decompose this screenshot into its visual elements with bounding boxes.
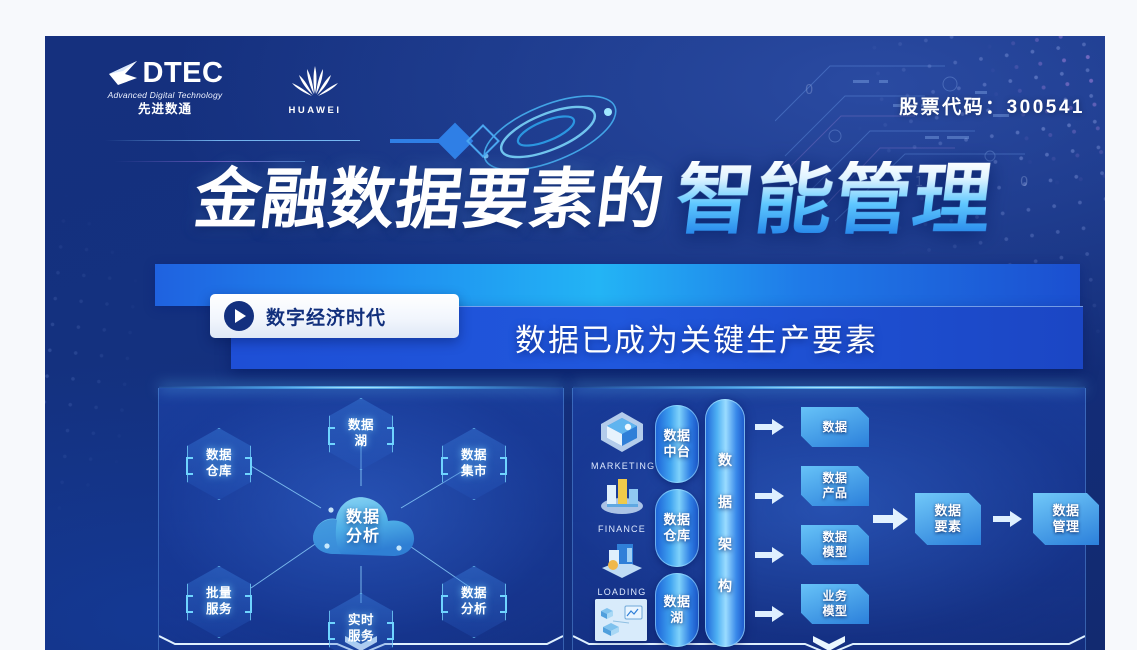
section-headline: 数据已成为关键生产要素 bbox=[515, 308, 1075, 366]
tower-char: 架 bbox=[718, 534, 732, 554]
hex-node-data-analysis[interactable]: 数据分析 bbox=[442, 566, 506, 638]
flow-arrow-icon bbox=[993, 509, 1023, 529]
output-box-data[interactable]: 数据 bbox=[801, 407, 869, 447]
hex-node-label: 数据集市 bbox=[461, 448, 487, 479]
dtec-logo: DTEC Advanced Digital Technology 先进数通 bbox=[90, 58, 240, 115]
slide-title-highlight: 智能管理 bbox=[671, 161, 997, 239]
output-box-business-model[interactable]: 业务模型 bbox=[801, 584, 869, 624]
capsule-label: 数据湖 bbox=[663, 594, 690, 625]
output-box-label: 数据 bbox=[822, 420, 847, 435]
section-badge[interactable]: 数字经济时代 bbox=[210, 294, 459, 338]
screenshot-root: 0 1 0 DTEC Advanced Digital Technology 先… bbox=[0, 0, 1137, 650]
hex-node-realtime-service[interactable]: 实时服务 bbox=[329, 593, 393, 650]
final-box-label: 数据管理 bbox=[1052, 503, 1079, 536]
marketing-cube-icon bbox=[597, 410, 647, 454]
source-caption: LOADING bbox=[591, 587, 653, 597]
brand-bar: DTEC Advanced Digital Technology 先进数通 bbox=[90, 58, 354, 115]
tower-char: 数 bbox=[718, 450, 732, 470]
loading-server-icon bbox=[597, 536, 647, 580]
hex-node-label: 批量服务 bbox=[206, 586, 232, 617]
slide-title: 金融数据要素的 智能管理 bbox=[195, 156, 1075, 244]
finance-chart-icon bbox=[597, 473, 647, 517]
capsule-data-midplatform[interactable]: 数据中台 bbox=[655, 405, 699, 483]
presentation-slide: 0 1 0 DTEC Advanced Digital Technology 先… bbox=[45, 36, 1105, 650]
play-icon bbox=[224, 301, 254, 331]
flow-arrow-icon bbox=[755, 545, 785, 565]
flow-arrow-icon bbox=[755, 604, 785, 624]
source-finance[interactable]: FINANCE bbox=[591, 473, 653, 534]
header-divider-line bbox=[105, 140, 360, 141]
data-architecture-tower[interactable]: 数 据 架 构 bbox=[705, 399, 745, 647]
hex-node-data-warehouse[interactable]: 数据仓库 bbox=[187, 428, 251, 500]
result-box-label: 数据要素 bbox=[934, 503, 961, 536]
tower-char: 构 bbox=[718, 576, 732, 596]
source-caption: FINANCE bbox=[591, 524, 653, 534]
dtec-tagline: Advanced Digital Technology bbox=[90, 91, 240, 100]
flow-arrow-merge-icon bbox=[873, 506, 909, 532]
dtec-wordmark: DTEC bbox=[143, 59, 224, 88]
source-workstation-thumbnail[interactable] bbox=[595, 599, 647, 641]
hex-node-label: 实时服务 bbox=[348, 613, 374, 644]
output-box-label: 数据模型 bbox=[822, 530, 847, 560]
capsule-label: 数据中台 bbox=[663, 428, 690, 459]
hex-node-label: 数据仓库 bbox=[206, 448, 232, 479]
hex-node-label: 数据湖 bbox=[348, 418, 374, 449]
final-box-data-governance[interactable]: 数据管理 bbox=[1033, 493, 1099, 545]
tower-char: 据 bbox=[718, 492, 732, 512]
output-box-label: 数据产品 bbox=[822, 471, 847, 501]
data-workstation-icon bbox=[595, 599, 647, 641]
center-cloud-node: 数据分析 bbox=[305, 484, 421, 570]
source-marketing[interactable]: MARKETING bbox=[591, 410, 653, 471]
capsule-data-warehouse[interactable]: 数据仓库 bbox=[655, 489, 699, 567]
capsule-label: 数据仓库 bbox=[663, 512, 690, 543]
slide-title-prefix: 金融数据要素的 bbox=[191, 167, 668, 233]
capsule-data-lake[interactable]: 数据湖 bbox=[655, 573, 699, 647]
flow-arrow-icon bbox=[755, 417, 785, 437]
svg-text:0: 0 bbox=[805, 83, 813, 98]
stock-code-label: 股票代码：300541 bbox=[899, 92, 1085, 119]
panel-top-glow bbox=[573, 386, 1085, 389]
huawei-logo: HUAWEI bbox=[276, 64, 354, 116]
source-loading[interactable]: LOADING bbox=[591, 536, 653, 597]
huawei-wordmark: HUAWEI bbox=[276, 106, 354, 116]
result-box-data-element[interactable]: 数据要素 bbox=[915, 493, 981, 545]
hex-node-batch-service[interactable]: 批量服务 bbox=[187, 566, 251, 638]
hex-node-data-mart[interactable]: 数据集市 bbox=[442, 428, 506, 500]
dtec-chinese-name: 先进数通 bbox=[90, 103, 240, 116]
huawei-flower-icon bbox=[287, 64, 343, 98]
panel-bottom-chevron-icon bbox=[573, 630, 1085, 650]
section-badge-label: 数字经济时代 bbox=[266, 303, 386, 330]
hex-node-data-lake[interactable]: 数据湖 bbox=[329, 398, 393, 470]
output-box-label: 业务模型 bbox=[822, 589, 847, 619]
output-box-data-product[interactable]: 数据产品 bbox=[801, 466, 869, 506]
source-caption: MARKETING bbox=[591, 461, 653, 471]
output-box-data-model[interactable]: 数据模型 bbox=[801, 525, 869, 565]
flow-arrow-icon bbox=[755, 486, 785, 506]
dtec-mark-icon bbox=[107, 58, 141, 88]
hex-node-label: 数据分析 bbox=[461, 586, 487, 617]
center-cloud-label: 数据分析 bbox=[346, 508, 380, 546]
left-diagram-panel: 数据分析 数据仓库 数据湖 数据集市 bbox=[158, 388, 564, 650]
